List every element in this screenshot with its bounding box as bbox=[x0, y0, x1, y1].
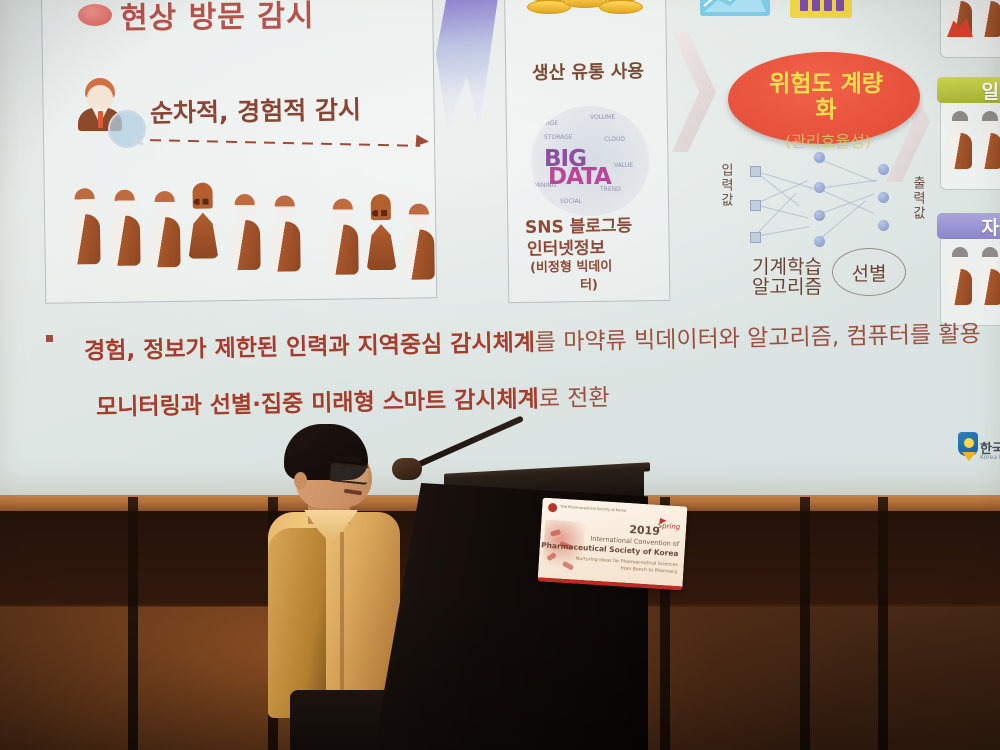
card-header-general: 일반 bbox=[937, 77, 1000, 103]
title-bullet-icon bbox=[78, 4, 112, 26]
bullet-line-2-rest: 로 전환 bbox=[539, 385, 610, 412]
sequential-surveillance-label: 순차적, 경험적 감시 bbox=[150, 90, 362, 130]
presentation-photo: 현상 방문 감시 순차적, 경험적 감시 bbox=[0, 0, 1000, 750]
bullet-line-1-rest: 를 마약류 빅데이터와 알고리즘, 컴퓨터를 활용 bbox=[535, 321, 981, 356]
output-value-label: 출력값 bbox=[908, 176, 927, 221]
bullet-line-1: 경험, 정보가 제한된 인력과 지역중심 감시체계를 마약류 빅데이터와 알고리… bbox=[84, 314, 981, 365]
input-value-label: 입력값 bbox=[716, 163, 735, 208]
algorithm-label: 알고리즘 bbox=[752, 272, 822, 299]
right-card-3: 자율 bbox=[940, 228, 1000, 326]
right-card-1 bbox=[940, 0, 1000, 58]
bullet-marker-icon bbox=[46, 335, 53, 342]
slide-content: 현상 방문 감시 순차적, 경험적 감시 bbox=[0, 0, 1000, 497]
speaker-glasses bbox=[329, 462, 369, 485]
bar-chart-icon bbox=[790, 0, 852, 18]
institution-logo-subtitle: Korea Institute bbox=[980, 454, 1000, 461]
selection-label: 선별 bbox=[832, 248, 906, 296]
sign-year: 2019 bbox=[629, 523, 660, 538]
arrow-head-icon bbox=[416, 134, 430, 147]
coins-stack-icon bbox=[527, 0, 647, 30]
projection-screen: 현상 방문 감시 순차적, 경험적 감시 bbox=[0, 0, 1000, 497]
wall-panel-strip-4 bbox=[800, 497, 810, 750]
people-group-illustration bbox=[67, 175, 428, 272]
slide-title: 현상 방문 감시 bbox=[120, 0, 315, 37]
risk-label-line2: 화 bbox=[748, 90, 904, 124]
bullet-line-2-emphasis: 모니터링과 선별·집중 bbox=[96, 391, 304, 421]
bullet-line-1-emphasis: 경험, 정보가 제한된 인력과 지역중심 감시체계 bbox=[84, 330, 535, 365]
bullet-line-2: 모니터링과 선별·집중 미래형 스마트 감시체계로 전환 bbox=[96, 378, 610, 422]
sign-line-4: from Bench to Pharmacy bbox=[620, 567, 677, 576]
unstructured-data-label-2: 터) bbox=[580, 274, 598, 293]
card-header-autonomous: 자율 bbox=[937, 213, 1000, 239]
purple-gradient-arrow-icon bbox=[436, 0, 506, 130]
institution-logo: 한국 Korea Institute bbox=[958, 432, 1000, 466]
chevron-right-icon-1 bbox=[672, 32, 716, 152]
bigdata-data-text: DATA bbox=[548, 164, 611, 190]
line-chart-icon bbox=[700, 0, 770, 16]
speaker-shirt-placket bbox=[340, 532, 344, 692]
society-logo-icon bbox=[548, 503, 558, 513]
bigdata-wordcloud-icon: LARGE VOLUME STORAGE CLOUD MINING TREND … bbox=[530, 106, 650, 216]
bullet-line-2-emphasis-2: 미래형 스마트 감시체계 bbox=[303, 386, 539, 417]
podium-event-sign: The Pharmaceutical Society of Korea 2019… bbox=[538, 498, 688, 591]
neural-network-diagram bbox=[740, 148, 910, 258]
wall-panel-strip-1 bbox=[128, 497, 138, 750]
sign-season: Spring bbox=[657, 522, 680, 531]
right-card-2: 일반 bbox=[940, 92, 1000, 190]
wall-panel-strip-5 bbox=[878, 497, 888, 750]
unstructured-data-label: (비정형 빅데이 bbox=[530, 255, 613, 275]
production-distribution-label: 생산 유통 사용 bbox=[532, 57, 644, 85]
society-logo-text: The Pharmaceutical Society of Korea bbox=[560, 505, 626, 513]
microphone-head-icon bbox=[392, 458, 422, 480]
speaker-ear bbox=[294, 472, 307, 489]
